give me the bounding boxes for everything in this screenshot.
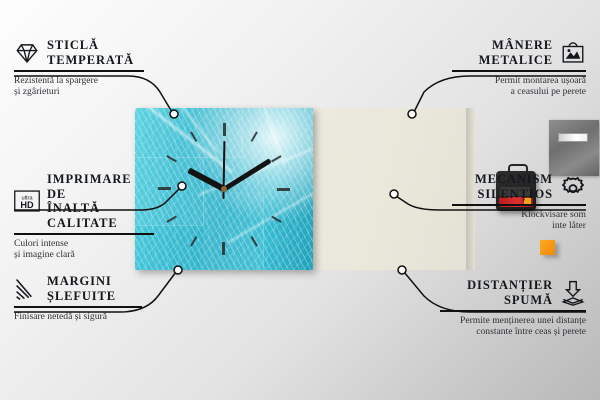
feature-title-1: IMPRIMARE DE [47, 172, 131, 201]
svg-text:HD: HD [20, 200, 34, 210]
feature-title-1: MARGINI [47, 274, 112, 288]
feature-sub-2: și imagine clară [14, 249, 75, 260]
divider [14, 306, 142, 308]
feature-title-2: SILENȚIOS [478, 187, 554, 201]
feature-silent-mechanism: MECANISMSILENȚIOS Klockvisare sominte lå… [452, 172, 586, 232]
feature-title-2: METALICE [479, 53, 553, 67]
feature-metal-handles: MÂNEREMETALICE Permit montarea ușoarăa c… [452, 38, 586, 98]
feature-sub-2: constante între ceas și perete [476, 326, 586, 337]
feature-tempered-glass: STICLĂTEMPERATĂ Rezistentă la spargereși… [14, 38, 144, 98]
divider [440, 310, 586, 312]
ultra-hd-icon: ultra HD [14, 188, 40, 214]
infographic-canvas: STICLĂTEMPERATĂ Rezistentă la spargereși… [0, 0, 600, 400]
product-photo [135, 108, 475, 270]
feature-title-1: MECANISM [475, 172, 553, 186]
feature-sub-1: Culori intense [14, 238, 68, 249]
feature-sub-1: Klockvisare som [521, 209, 586, 220]
clock-center-cap [221, 186, 227, 192]
divider [14, 233, 154, 235]
diamond-icon [14, 40, 40, 66]
feature-title-2: ÎNALTĂ CALITATE [47, 201, 118, 230]
divider [452, 70, 586, 72]
press-down-icon [560, 280, 586, 306]
feature-polished-edges: MARGINIȘLEFUITE Finisare netedă și sigur… [14, 274, 142, 322]
feature-sub-2: și zgârieturi [14, 86, 60, 97]
feature-title-2: ȘLEFUITE [47, 289, 116, 303]
clock-tick [224, 188, 290, 190]
feature-hd-print: ultra HD IMPRIMARE DEÎNALTĂ CALITATE Cul… [14, 172, 154, 261]
foam-spacer-part [540, 240, 555, 255]
metal-hanger-part [549, 120, 599, 176]
gear-icon [560, 174, 586, 200]
divider [452, 204, 586, 206]
feature-sub-1: Rezistentă la spargere [14, 75, 98, 86]
feature-sub-1: Permit montarea ușoară [495, 75, 586, 86]
wall-clock [135, 108, 313, 270]
feature-title-2: TEMPERATĂ [47, 53, 134, 67]
feature-sub-1: Finisare netedă și sigură [14, 311, 107, 322]
feature-title-2: SPUMĂ [504, 293, 553, 307]
feature-title-1: MÂNERE [492, 38, 553, 52]
polished-edges-icon [14, 276, 40, 302]
clock-tick [158, 188, 224, 190]
feature-foam-spacer: DISTANȚIERSPUMĂ Permite menținerea unei … [440, 278, 586, 338]
feature-sub-2: inte låter [552, 220, 586, 231]
picture-hanger-icon [560, 40, 586, 66]
feature-title-1: DISTANȚIER [467, 278, 553, 292]
divider [14, 70, 144, 72]
accessory-panel [310, 108, 475, 270]
feature-sub-2: a ceasului pe perete [511, 86, 586, 97]
feature-sub-1: Permite menținerea unei distanțe [460, 315, 586, 326]
feature-title-1: STICLĂ [47, 38, 99, 52]
